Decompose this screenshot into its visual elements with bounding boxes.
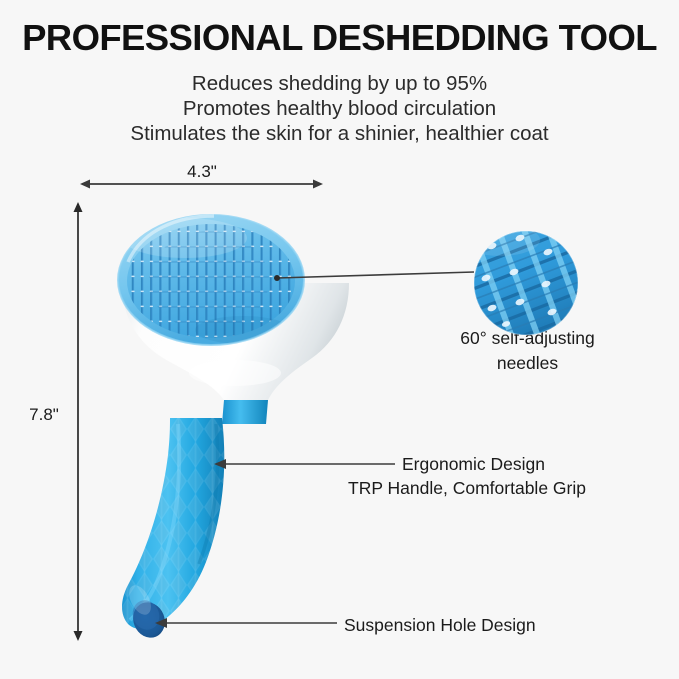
leader-line-suspension <box>155 618 337 628</box>
brush-handle <box>122 400 268 642</box>
leader-line-ergonomic <box>214 459 395 469</box>
dimension-height-arrow <box>74 202 83 641</box>
dimension-width-arrow <box>80 180 323 189</box>
product-illustration <box>0 0 679 679</box>
infographic-canvas: PROFESSIONAL DESHEDDING TOOL Reduces she… <box>0 0 679 679</box>
